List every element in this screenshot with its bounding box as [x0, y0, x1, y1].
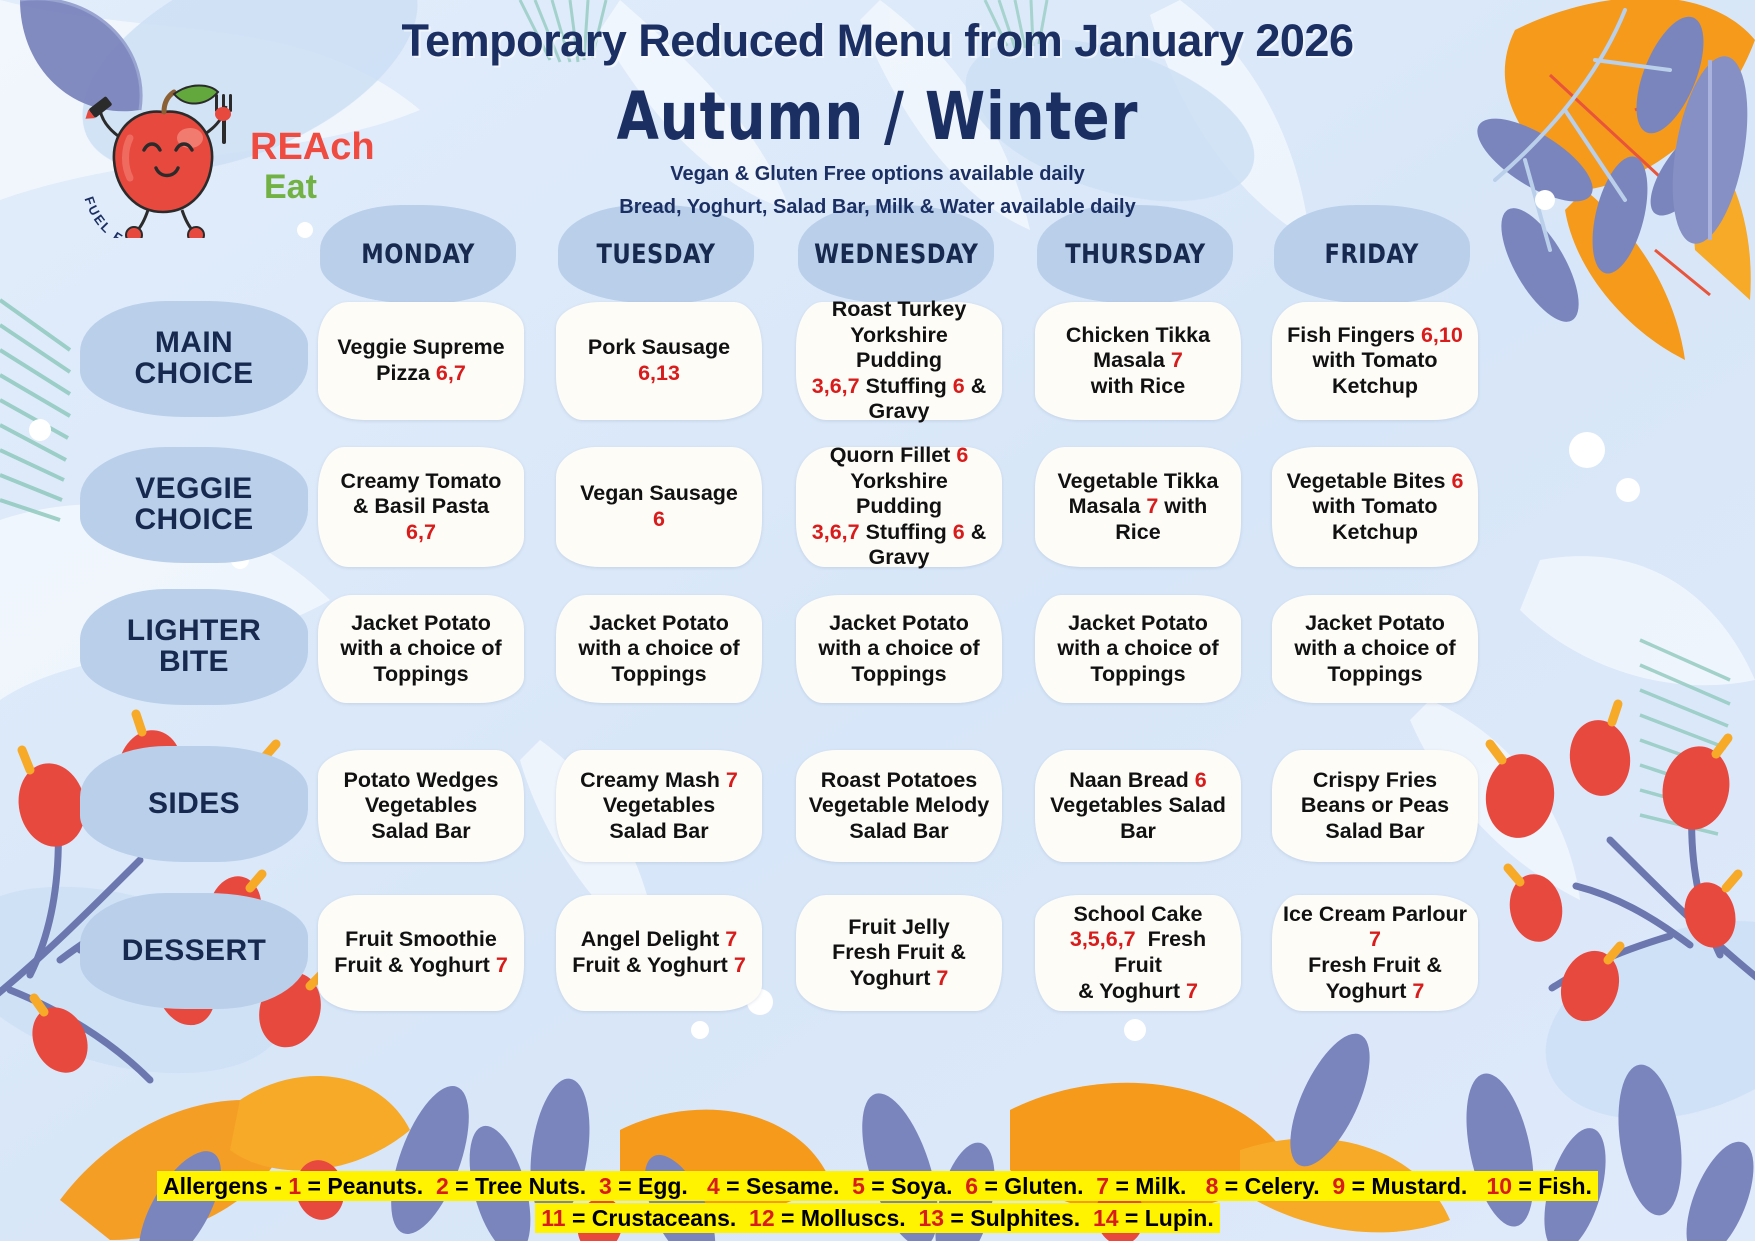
menu-cell-text: Crispy FriesBeans or PeasSalad Bar: [1301, 768, 1449, 845]
menu-cell-text: Vegetable Bites 6with TomatoKetchup: [1287, 469, 1464, 546]
menu-cell-text: School Cake3,5,6,7 Fresh Fruit& Yoghurt …: [1045, 902, 1231, 1004]
menu-cell-veggie-choice-monday: Creamy Tomato& Basil Pasta6,7: [318, 447, 524, 567]
menu-cell-sides-wednesday: Roast PotatoesVegetable MelodySalad Bar: [796, 750, 1002, 862]
menu-cell-main-choice-monday: Veggie SupremePizza 6,7: [318, 302, 524, 420]
menu-cell-text: Angel Delight 7Fruit & Yoghurt 7: [572, 927, 746, 978]
menu-cell-text: Jacket Potatowith a choice ofToppings: [1294, 611, 1455, 688]
menu-cell-text: Vegetable TikkaMasala 7 withRice: [1058, 469, 1219, 546]
menu-cell-text: Pork Sausage6,13: [588, 335, 730, 386]
menu-cell-text: Jacket Potatowith a choice ofToppings: [818, 611, 979, 688]
menu-cell-sides-monday: Potato WedgesVegetablesSalad Bar: [318, 750, 524, 862]
menu-cell-main-choice-tuesday: Pork Sausage6,13: [556, 302, 762, 420]
menu-cell-text: Fruit SmoothieFruit & Yoghurt 7: [334, 927, 508, 978]
day-header-label: WEDNESDAY: [814, 239, 978, 270]
menu-cell-dessert-friday: Ice Cream Parlour 7Fresh Fruit &Yoghurt …: [1272, 895, 1478, 1011]
menu-cell-veggie-choice-tuesday: Vegan Sausage6: [556, 447, 762, 567]
menu-cell-text: Jacket Potatowith a choice ofToppings: [1057, 611, 1218, 688]
menu-cell-text: Jacket Potatowith a choice ofToppings: [340, 611, 501, 688]
menu-cell-text: Roast TurkeyYorkshire Pudding3,6,7 Stuff…: [806, 297, 992, 425]
menu-cell-lighter-bite-friday: Jacket Potatowith a choice ofToppings: [1272, 595, 1478, 703]
row-header-veggie-choice: VEGGIE CHOICE: [80, 447, 308, 563]
row-header-label: MAIN CHOICE: [134, 328, 253, 389]
allergen-legend-line-1: Allergens - 1 = Peanuts. 2 = Tree Nuts. …: [0, 1172, 1755, 1201]
menu-cell-text: Fruit JellyFresh Fruit &Yoghurt 7: [832, 915, 966, 992]
menu-cell-text: Chicken TikkaMasala 7with Rice: [1066, 323, 1210, 400]
page-title: Temporary Reduced Menu from January 2026: [0, 15, 1755, 67]
day-header-label: FRIDAY: [1325, 239, 1419, 270]
menu-grid: MONDAYTUESDAYWEDNESDAYTHURSDAYFRIDAYMAIN…: [0, 205, 1755, 1135]
menu-cell-dessert-wednesday: Fruit JellyFresh Fruit &Yoghurt 7: [796, 895, 1002, 1011]
menu-cell-sides-tuesday: Creamy Mash 7VegetablesSalad Bar: [556, 750, 762, 862]
reach-eat-logo: FUEL FOR SCHOOL REAch Eat: [78, 78, 378, 238]
menu-cell-main-choice-wednesday: Roast TurkeyYorkshire Pudding3,6,7 Stuff…: [796, 302, 1002, 420]
menu-cell-text: Creamy Mash 7VegetablesSalad Bar: [580, 768, 738, 845]
menu-cell-lighter-bite-thursday: Jacket Potatowith a choice ofToppings: [1035, 595, 1241, 703]
menu-cell-text: Creamy Tomato& Basil Pasta6,7: [341, 469, 502, 546]
menu-cell-veggie-choice-thursday: Vegetable TikkaMasala 7 withRice: [1035, 447, 1241, 567]
allergen-legend-text-1: Allergens - 1 = Peanuts. 2 = Tree Nuts. …: [157, 1171, 1598, 1201]
menu-cell-text: Roast PotatoesVegetable MelodySalad Bar: [809, 768, 989, 845]
day-header-label: TUESDAY: [597, 239, 716, 270]
menu-cell-text: Jacket Potatowith a choice ofToppings: [578, 611, 739, 688]
menu-cell-text: Quorn Fillet 6Yorkshire Pudding3,6,7 Stu…: [806, 443, 992, 571]
allergen-legend-text-2: 11 = Crustaceans. 12 = Molluscs. 13 = Su…: [535, 1203, 1219, 1233]
logo-brand-eat: Eat: [264, 168, 317, 207]
menu-cell-lighter-bite-tuesday: Jacket Potatowith a choice ofToppings: [556, 595, 762, 703]
row-header-label: SIDES: [148, 789, 240, 820]
menu-cell-text: Naan Bread 6Vegetables SaladBar: [1050, 768, 1226, 845]
day-header-label: THURSDAY: [1065, 239, 1205, 270]
day-header-label: MONDAY: [361, 239, 475, 270]
menu-cell-dessert-tuesday: Angel Delight 7Fruit & Yoghurt 7: [556, 895, 762, 1011]
menu-cell-lighter-bite-wednesday: Jacket Potatowith a choice ofToppings: [796, 595, 1002, 703]
row-header-main-choice: MAIN CHOICE: [80, 301, 308, 417]
menu-cell-sides-thursday: Naan Bread 6Vegetables SaladBar: [1035, 750, 1241, 862]
logo-brand-reach: REAch: [250, 126, 375, 169]
row-header-label: LIGHTER BITE: [127, 616, 261, 677]
menu-cell-text: Fish Fingers 6,10with TomatoKetchup: [1287, 323, 1463, 400]
menu-cell-veggie-choice-friday: Vegetable Bites 6with TomatoKetchup: [1272, 447, 1478, 567]
row-header-label: VEGGIE CHOICE: [134, 474, 253, 535]
menu-cell-sides-friday: Crispy FriesBeans or PeasSalad Bar: [1272, 750, 1478, 862]
menu-cell-dessert-thursday: School Cake3,5,6,7 Fresh Fruit& Yoghurt …: [1035, 895, 1241, 1011]
menu-cell-lighter-bite-monday: Jacket Potatowith a choice ofToppings: [318, 595, 524, 703]
menu-cell-text: Veggie SupremePizza 6,7: [337, 335, 504, 386]
allergen-legend-line-2: 11 = Crustaceans. 12 = Molluscs. 13 = Su…: [0, 1204, 1755, 1233]
row-header-label: DESSERT: [122, 936, 267, 967]
menu-cell-text: Potato WedgesVegetablesSalad Bar: [344, 768, 499, 845]
row-header-sides: SIDES: [80, 746, 308, 862]
row-header-dessert: DESSERT: [80, 893, 308, 1009]
menu-cell-main-choice-friday: Fish Fingers 6,10with TomatoKetchup: [1272, 302, 1478, 420]
menu-cell-text: Vegan Sausage6: [580, 481, 738, 532]
menu-cell-dessert-monday: Fruit SmoothieFruit & Yoghurt 7: [318, 895, 524, 1011]
row-header-lighter-bite: LIGHTER BITE: [80, 589, 308, 705]
menu-cell-text: Ice Cream Parlour 7Fresh Fruit &Yoghurt …: [1282, 902, 1468, 1004]
menu-cell-veggie-choice-wednesday: Quorn Fillet 6Yorkshire Pudding3,6,7 Stu…: [796, 447, 1002, 567]
menu-cell-main-choice-thursday: Chicken TikkaMasala 7with Rice: [1035, 302, 1241, 420]
